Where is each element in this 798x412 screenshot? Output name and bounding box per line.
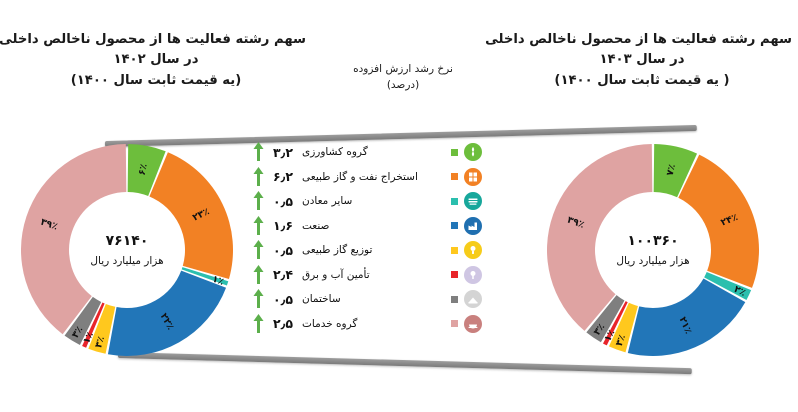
legend-row-8[interactable]: گروه خدمات۲٫۵ — [250, 312, 482, 337]
arrow-up-icon — [250, 314, 266, 334]
growth-rate-value: ۰٫۵ — [266, 243, 300, 258]
legend-label: استخراج نفت و گاز طبیعی — [300, 171, 444, 183]
factory-icon — [464, 217, 482, 235]
left-title-line-2: در سال ۱۴۰۲ — [6, 50, 306, 70]
legend-label: ساختمان — [300, 293, 444, 305]
arrow-up-icon — [250, 265, 266, 285]
oil-barrel-icon — [464, 168, 482, 186]
legend-label: سایر معادن — [300, 195, 444, 207]
legend-row-5[interactable]: توزیع گاز طبیعی۰٫۵ — [250, 238, 482, 263]
sector-legend: گروه کشاورزی۳٫۲استخراج نفت و گاز طبیعی۶٫… — [250, 140, 482, 336]
legend-row-1[interactable]: گروه کشاورزی۳٫۲ — [250, 140, 482, 165]
growth-rate-value: ۰٫۵ — [266, 292, 300, 307]
legend-row-7[interactable]: ساختمان۰٫۵ — [250, 287, 482, 312]
legend-row-2[interactable]: استخراج نفت و گاز طبیعی۶٫۲ — [250, 165, 482, 190]
legend-color-swatch — [451, 173, 458, 180]
donut-chart-1403: ۷٪۲۴٪۲٪۲۱٪۳٪۱٪۳٪۳۹٪ ۱۰۰۳۶۰ هزار میلیارد … — [540, 137, 766, 363]
donut-1403-svg: ۷٪۲۴٪۲٪۲۱٪۳٪۱٪۳٪۳۹٪ — [540, 137, 766, 363]
legend-row-6[interactable]: تأمین آب و برق۲٫۴ — [250, 263, 482, 288]
left-chart-title: سهم رشته فعالیت ها از محصول ناخالص داخلی… — [6, 30, 306, 91]
legend-color-swatch — [451, 271, 458, 278]
legend-row-3[interactable]: سایر معادن۰٫۵ — [250, 189, 482, 214]
legend-color-swatch — [451, 247, 458, 254]
growth-rate-value: ۶٫۲ — [266, 169, 300, 184]
growth-rate-value: ۳٫۲ — [266, 145, 300, 160]
growth-rate-column-header: نرخ رشد ارزش افزوده (درصد) — [348, 62, 458, 94]
legend-color-swatch — [451, 149, 458, 156]
right-title-line-1: سهم رشته فعالیت ها از محصول ناخالص داخلی — [492, 30, 792, 50]
growth-rate-value: ۱٫۶ — [266, 218, 300, 233]
mine-cart-icon — [464, 192, 482, 210]
legend-label: توزیع گاز طبیعی — [300, 244, 444, 256]
legend-color-swatch — [451, 296, 458, 303]
growth-rate-value: ۰٫۵ — [266, 194, 300, 209]
gas-flame-icon — [464, 241, 482, 259]
legend-color-swatch — [451, 320, 458, 327]
left-title-line-1: سهم رشته فعالیت ها از محصول ناخالص داخلی — [6, 30, 306, 50]
donut-1402-svg: ۶٪۲۳٪۱٪۲۲٪۳٪۱٪۳٪۳۹٪ — [14, 137, 240, 363]
legend-label: تأمین آب و برق — [300, 269, 444, 281]
arrow-up-icon — [250, 240, 266, 260]
left-title-line-3: (یه قیمت ثابت سال ۱۴۰۰) — [6, 71, 306, 91]
growth-rate-value: ۲٫۴ — [266, 267, 300, 282]
legend-color-swatch — [451, 222, 458, 229]
legend-label: گروه خدمات — [300, 318, 444, 330]
right-title-line-2: در سال ۱۴۰۳ — [492, 50, 792, 70]
donut-chart-1402: ۶٪۲۳٪۱٪۲۲٪۳٪۱٪۳٪۳۹٪ ۷۶۱۴۰ هزار میلیارد ر… — [14, 137, 240, 363]
donut-slice-label-1: ۶٪ — [137, 163, 150, 177]
legend-color-swatch — [451, 198, 458, 205]
arrow-up-icon — [250, 167, 266, 187]
arrow-up-icon — [250, 216, 266, 236]
services-icon — [464, 315, 482, 333]
building-icon — [464, 290, 482, 308]
legend-label: صنعت — [300, 220, 444, 232]
growth-header-line-2: (درصد) — [348, 78, 458, 94]
infographic-canvas: سهم رشته فعالیت ها از محصول ناخالص داخلی… — [0, 0, 798, 412]
growth-rate-value: ۲٫۵ — [266, 316, 300, 331]
legend-label: گروه کشاورزی — [300, 146, 444, 158]
arrow-up-icon — [250, 289, 266, 309]
legend-row-4[interactable]: صنعت۱٫۶ — [250, 214, 482, 239]
donut-slice-2[interactable] — [678, 155, 759, 288]
wheat-icon — [464, 143, 482, 161]
power-plug-icon — [464, 266, 482, 284]
growth-header-line-1: نرخ رشد ارزش افزوده — [348, 62, 458, 78]
donut-slice-8[interactable] — [547, 144, 652, 331]
arrow-up-icon — [250, 191, 266, 211]
right-chart-title: سهم رشته فعالیت ها از محصول ناخالص داخلی… — [492, 30, 792, 91]
arrow-up-icon — [250, 142, 266, 162]
right-title-line-3: ( یه قیمت ثابت سال ۱۴۰۰) — [492, 71, 792, 91]
